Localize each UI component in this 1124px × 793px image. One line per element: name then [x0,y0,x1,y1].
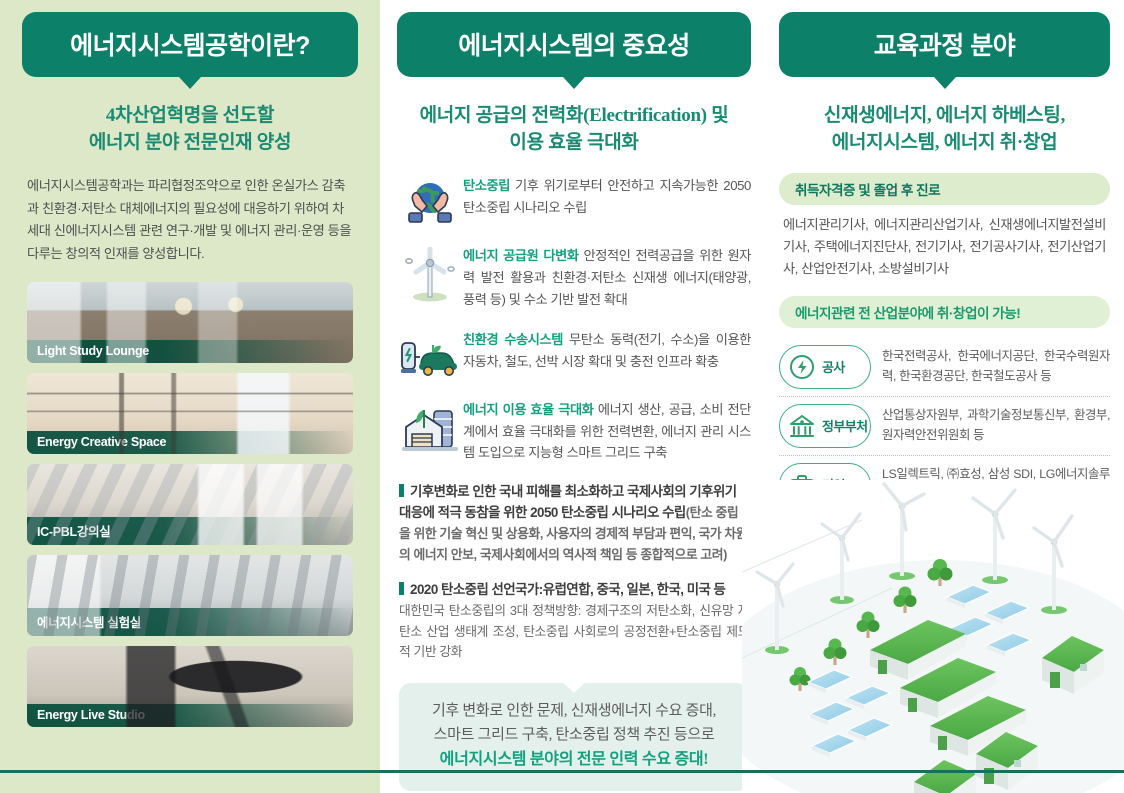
career-description: 산업통상자원부, 과학기술정보통신부, 환경부, 원자력안전위원회 등 [871,406,1110,444]
importance-item-text: 에너지 이용 효율 극대화 에너지 생산, 공급, 소비 전단계에서 효율 극대… [463,399,751,465]
photo-caption: Light Study Lounge [27,340,353,363]
photo-caption: Energy Live Studio [27,704,353,727]
photo-energy-creative-space: Energy Creative Space [27,373,353,454]
note-block: 기후변화로 인한 국내 피해를 최소화하고 국제사회의 기후위기 대응에 적극 … [399,482,749,565]
column3-tab-title: 교육과정 분야 [779,12,1110,77]
tab-notch-icon [563,77,585,89]
note-heading-text: 2020 탄소중립 선언국가:유럽연합, 중국, 일본, 한국, 미국 등 [410,582,725,597]
note-bar-icon [399,484,404,497]
photo-caption: Energy Creative Space [27,431,353,454]
career-pill: 에너지관련 전 산업분야에 취·창업이 가능! [779,296,1110,328]
importance-item: 탄소중립 기후 위기로부터 안전하고 지속가능한 2050 탄소중립 시나리오 … [397,175,751,227]
note-heading: 2020 탄소중립 선언국가:유럽연합, 중국, 일본, 한국, 미국 등 [399,580,749,601]
importance-item-title: 에너지 이용 효율 극대화 [463,402,593,417]
brochure-page: 에너지시스템공학이란? 4차산업혁명을 선도할 에너지 분야 전문인재 양성 에… [0,0,1124,793]
importance-item-list: 탄소중립 기후 위기로부터 안전하고 지속가능한 2050 탄소중립 시나리오 … [397,175,751,464]
tab-notch-icon [179,77,201,89]
callout-notch-icon [562,682,586,693]
importance-item-title: 에너지 공급원 다변화 [463,248,579,263]
column2-subtitle: 에너지 공급의 전력화(Electrification) 및 이용 효율 극대화 [385,103,763,157]
career-row: 공사 한국전력공사, 한국에너지공단, 한국수력원자력, 한국환경공단, 한국철… [779,338,1110,396]
note-block: 2020 탄소중립 선언국가:유럽연합, 중국, 일본, 한국, 미국 등 대한… [399,580,749,662]
career-label: 정부부처 [822,416,867,435]
certifications-text: 에너지관리기사, 에너지관리산업기사, 신재생에너지발전설비기사, 주택에너지진… [783,214,1106,280]
column1-subtitle: 4차산업혁명을 선도할 에너지 분야 전문인재 양성 [0,103,380,157]
ev-charging-icon [397,329,463,381]
career-description: 한국전력공사, 한국에너지공단, 한국수력원자력, 한국환경공단, 한국철도공사… [871,347,1110,385]
column-what-is: 에너지시스템공학이란? 4차산업혁명을 선도할 에너지 분야 전문인재 양성 에… [0,0,380,793]
renewable-energy-village-illustration [742,480,1124,793]
column2-header: 에너지시스템의 중요성 [385,12,763,89]
column3-subtitle: 신재생에너지, 에너지 하베스팅, 에너지시스템, 에너지 취·창업 [765,103,1124,157]
career-badge-government: 정부부처 [779,404,871,448]
column1-subtitle-line2: 에너지 분야 전문인재 양성 [0,130,380,157]
photo-light-study-lounge: Light Study Lounge [27,282,353,363]
tab-notch-icon [934,77,956,89]
wind-turbine-icon [397,245,463,303]
importance-item-text: 친환경 수송시스템 무탄소 동력(전기, 수소)을 이용한 자동차, 철도, 선… [463,329,751,373]
photo-energy-system-lab: 에너지시스템 실험실 [27,555,353,636]
column1-tab-title: 에너지시스템공학이란? [22,12,358,77]
smart-factory-icon [397,399,463,453]
callout-line-1: 기후 변화로 인한 문제, 신재생에너지 수요 증대, [413,699,735,723]
photo-ic-pbl-classroom: IC-PBL강의실 [27,464,353,545]
column3-subtitle-line1: 신재생에너지, 에너지 하베스팅, [765,103,1124,130]
column1-header: 에너지시스템공학이란? [0,12,380,89]
career-badge-public-corp: 공사 [779,345,871,389]
column2-tab-title: 에너지시스템의 중요성 [397,12,751,77]
note-bar-icon [399,582,404,595]
photo-energy-live-studio: Energy Live Studio [27,646,353,727]
callout-line-2: 스마트 그리드 구축, 탄소중립 정책 추진 등으로 [413,723,735,747]
bolt-circle-icon [787,352,817,382]
column2-subtitle-line2: 이용 효율 극대화 [385,130,763,157]
bottom-divider-rule-left [27,770,380,773]
column2-subtitle-line1: 에너지 공급의 전력화(Electrification) 및 [385,103,763,130]
column3-subtitle-line2: 에너지시스템, 에너지 취·창업 [765,130,1124,157]
career-row: 정부부처 산업통상자원부, 과학기술정보통신부, 환경부, 원자력안전위원회 등 [779,396,1110,455]
importance-item-text: 탄소중립 기후 위기로부터 안전하고 지속가능한 2050 탄소중립 시나리오 … [463,175,751,219]
photo-caption: 에너지시스템 실험실 [27,608,353,636]
facility-photo-list: Light Study Lounge Energy Creative Space… [27,282,353,727]
note-heading: 기후변화로 인한 국내 피해를 최소화하고 국제사회의 기후위기 대응에 적극 … [399,482,749,565]
importance-item-title: 탄소중립 [463,178,510,193]
column3-header: 교육과정 분야 [765,12,1124,89]
column-importance: 에너지시스템의 중요성 에너지 공급의 전력화(Electrification)… [385,0,763,793]
column1-subtitle-line1: 4차산업혁명을 선도할 [0,103,380,130]
importance-item: 친환경 수송시스템 무탄소 동력(전기, 수소)을 이용한 자동차, 철도, 선… [397,329,751,381]
summary-callout: 기후 변화로 인한 문제, 신재생에너지 수요 증대, 스마트 그리드 구축, … [399,683,749,792]
government-building-icon [787,411,817,441]
importance-item-title: 친환경 수송시스템 [463,332,563,347]
importance-item-text: 에너지 공급원 다변화 안정적인 전력공급을 위한 원자력 발전 활용과 친환경… [463,245,751,311]
earth-hands-icon [397,175,463,227]
career-label: 공사 [822,357,845,376]
certifications-pill: 취득자격증 및 졸업 후 진로 [779,173,1110,205]
importance-item: 에너지 이용 효율 극대화 에너지 생산, 공급, 소비 전단계에서 효율 극대… [397,399,751,465]
column1-description: 에너지시스템공학과는 파리협정조약으로 인한 온실가스 감축과 친환경·저탄소 … [27,175,353,266]
importance-item: 에너지 공급원 다변화 안정적인 전력공급을 위한 원자력 발전 활용과 친환경… [397,245,751,311]
note-body-text: 대한민국 탄소중립의 3대 정책방향: 경제구조의 저탄소화, 신유망 저탄소 … [399,601,749,662]
photo-caption: IC-PBL강의실 [27,517,353,545]
